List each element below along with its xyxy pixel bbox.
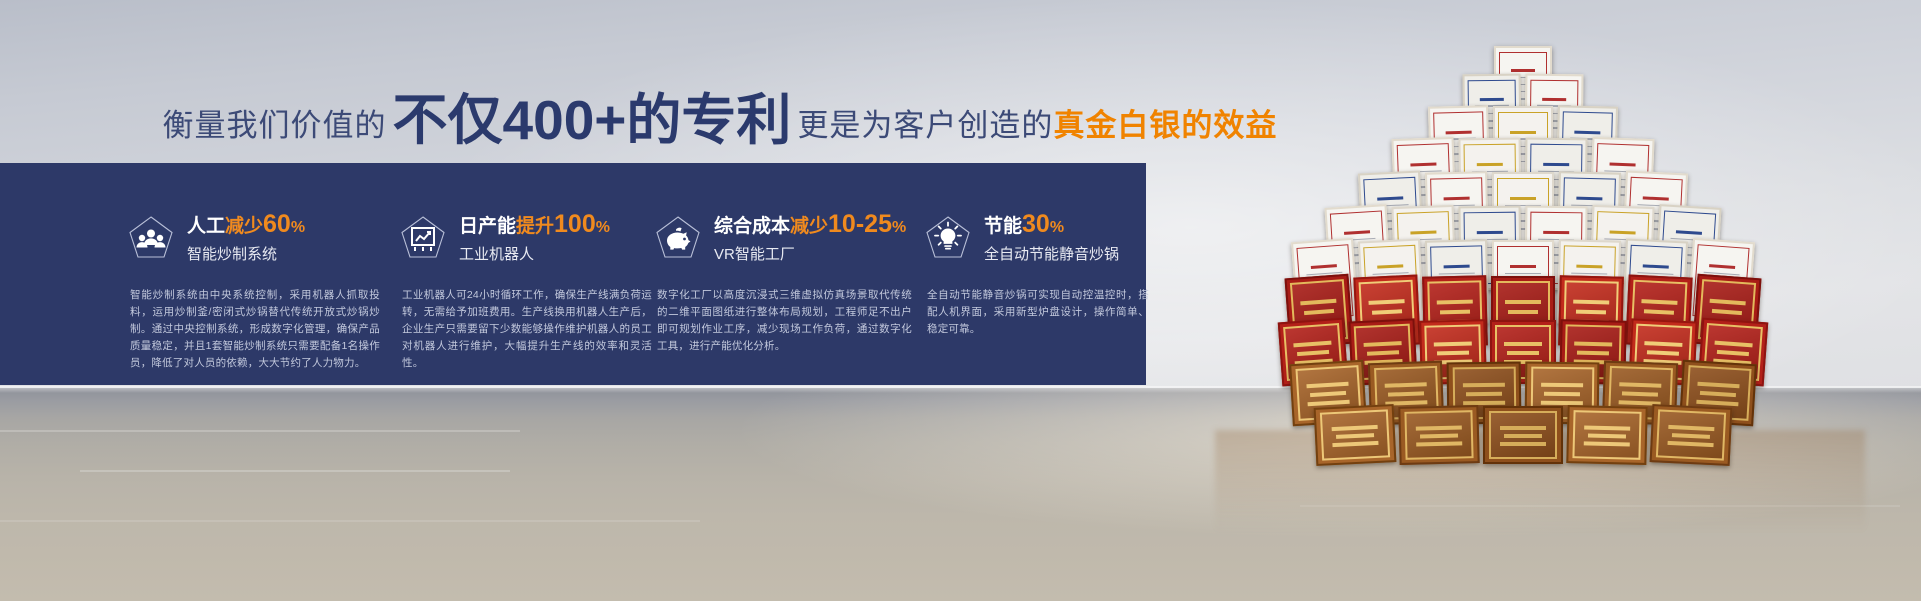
page-headline: 衡量我们价值的 不仅400+的专利 更是为客户创造的 真金白银的效益: [0, 72, 1440, 138]
certificate-text-line: [1543, 163, 1569, 166]
headline-middle: 更是为客户创造的: [797, 100, 1053, 145]
feature-title: 综合成本减少10-25%: [714, 213, 906, 239]
certificate-text-line: [1311, 264, 1337, 269]
plaque-text-line: [1574, 342, 1611, 347]
people-group-icon: [128, 215, 174, 261]
plaque-text-line: [1668, 425, 1714, 431]
plaque-text-line: [1667, 441, 1713, 447]
certificate-text-line: [1609, 231, 1635, 235]
plaque-text-line: [1367, 350, 1398, 356]
plaque-text-line: [1507, 351, 1538, 355]
certificate-text-line: [1576, 197, 1602, 201]
certificate-inner: [1320, 409, 1391, 461]
feature-title-highlight: 减少: [790, 216, 828, 237]
feature-title: 节能30%: [984, 213, 1119, 239]
feature-subtitle: 全自动节能静音炒锅: [984, 246, 1119, 264]
plaque-text-line: [1463, 383, 1506, 388]
feature-title: 日产能提升100%: [459, 213, 610, 239]
plaque-text-line: [1310, 391, 1346, 397]
feature-subtitle: VR智能工厂: [714, 246, 906, 264]
feature-title-prefix: 日产能: [459, 216, 516, 237]
plaque-text-line: [1434, 342, 1471, 347]
plaque-text-line: [1710, 299, 1746, 306]
feature-text-block: 节能30% 全自动节能静音炒锅: [984, 213, 1119, 264]
certificate-inner: [1404, 410, 1474, 460]
feature-item-energy: 节能30% 全自动节能静音炒锅 全自动节能静音炒锅可实现自动控温控时，搭配人机界…: [925, 163, 1157, 385]
feature-title-unit: %: [291, 219, 305, 236]
certificate-text-line: [1377, 197, 1403, 201]
certificate-text-line: [1575, 130, 1600, 134]
plaque-text-line: [1645, 341, 1682, 347]
certificate-text-line: [1543, 231, 1569, 234]
certificate-text-line: [1446, 130, 1471, 134]
feature-subtitle: 智能炒制系统: [187, 246, 305, 264]
certificate-text-line: [1444, 265, 1470, 269]
plaque-text-line: [1437, 299, 1473, 304]
feature-subtitle: 工业机器人: [459, 246, 610, 264]
feature-title-prefix: 节能: [984, 216, 1022, 237]
certificate-text-line: [1410, 163, 1436, 167]
feature-title-unit: %: [596, 219, 610, 236]
feature-title-prefix: 人工: [187, 216, 225, 237]
plaque-text-line: [1388, 391, 1424, 396]
plaque-text-line: [1500, 442, 1546, 446]
certificate-inner: [1572, 410, 1642, 460]
certificate-text-line: [1709, 264, 1735, 269]
plaque-text-line: [1336, 433, 1375, 439]
feature-title-unit: %: [892, 219, 906, 236]
plaque-text-line: [1544, 392, 1579, 396]
plaque-text-line: [1588, 434, 1627, 439]
plaque-text-line: [1420, 434, 1459, 439]
certificate-text-line: [1377, 265, 1403, 269]
certificate-text-line: [1477, 231, 1503, 234]
plaque-text-line: [1300, 299, 1336, 306]
feature-item-capacity: 日产能提升100% 工业机器人 工业机器人可24小时循环工作，确保生产线满负荷运…: [400, 163, 650, 385]
plaque-text-line: [1437, 351, 1468, 356]
certificate-item: [1314, 404, 1397, 466]
plaque-text-line: [1622, 391, 1658, 396]
feature-title-number: 60: [263, 210, 291, 238]
plaque-text-line: [1384, 383, 1427, 389]
plaque-text-line: [1619, 383, 1662, 389]
plaque-text-line: [1715, 341, 1752, 348]
plaque-text-line: [1505, 300, 1541, 304]
headline-suffix: 真金白银的效益: [1053, 100, 1277, 145]
plaque-text-line: [1584, 425, 1630, 430]
plaque-text-line: [1306, 382, 1349, 389]
plaque-text-line: [1696, 399, 1739, 406]
feature-list: 人工减少60% 智能炒制系统 智能炒制系统由中央系统控制，采用机器人抓取投料，运…: [0, 163, 1146, 385]
certificate-text-line: [1480, 98, 1504, 101]
plaque-text-line: [1644, 309, 1674, 314]
certificate-inner: [1656, 409, 1727, 461]
certificate-item: [1398, 405, 1479, 465]
feature-body-text: 智能炒制系统由中央系统控制，采用机器人抓取投料，运用炒制釜/密闭式炒锅替代传统开…: [130, 287, 380, 372]
certificate-text-line: [1505, 273, 1541, 275]
certificate-text-line: [1643, 265, 1669, 269]
plaque-text-line: [1712, 309, 1742, 315]
certificate-inner: [1489, 411, 1557, 460]
piggy-bank-icon: [655, 215, 701, 261]
feature-title-prefix: 综合成本: [714, 216, 790, 237]
certificate-text-line: [1510, 197, 1536, 200]
certificate-text-line: [1511, 69, 1535, 72]
feature-body-text: 数字化工厂以高度沉浸式三维虚拟仿真场景取代传统的二维平面图纸进行整体布局规划，工…: [657, 287, 912, 355]
plaque-text-line: [1717, 350, 1748, 356]
sea-streak: [0, 430, 520, 432]
lightbulb-icon: [925, 215, 971, 261]
plaque-text-line: [1372, 309, 1402, 314]
chart-board-icon: [400, 215, 446, 261]
sea-streak: [80, 470, 510, 472]
plaque-text-line: [1541, 383, 1584, 388]
feature-header: 综合成本减少10-25% VR智能工厂: [655, 213, 906, 264]
feature-title-highlight: 减少: [225, 216, 263, 237]
plaque-text-line: [1576, 310, 1606, 315]
feature-body-text: 工业机器人可24小时循环工作，确保生产线满负荷运转，无需给予加班费用。生产线换用…: [402, 287, 652, 372]
certificate-text-line: [1510, 131, 1535, 134]
certificate-item: [1650, 404, 1733, 466]
certificate-text-line: [1609, 163, 1635, 167]
feature-header: 节能30% 全自动节能静音炒锅: [925, 213, 1119, 264]
certificate-text-line: [1676, 230, 1702, 235]
feature-header: 日产能提升100% 工业机器人: [400, 213, 610, 264]
plaque-text-line: [1672, 433, 1711, 439]
certificate-text-line: [1439, 272, 1475, 274]
feature-header: 人工减少60% 智能炒制系统: [128, 213, 305, 264]
plaque-text-line: [1440, 310, 1470, 315]
certificate-text-line: [1477, 163, 1503, 166]
certificate-text-line: [1571, 272, 1607, 274]
plaque-text-line: [1641, 299, 1677, 305]
plaque-text-line: [1368, 299, 1404, 305]
plaque-text-line: [1504, 434, 1543, 438]
certificate-text-line: [1542, 98, 1566, 101]
feature-title-number: 30: [1022, 210, 1050, 238]
feature-title-unit: %: [1050, 219, 1064, 236]
plaque-text-line: [1416, 442, 1462, 447]
headline-prefix: 衡量我们价值的: [163, 100, 387, 145]
plaque-text-line: [1577, 351, 1608, 356]
sea-streak: [0, 520, 700, 522]
certificate-text-line: [1510, 265, 1536, 268]
plaque-text-line: [1504, 342, 1541, 346]
plaque-text-line: [1304, 309, 1334, 315]
plaque-text-line: [1416, 425, 1462, 430]
plaque-text-line: [1466, 392, 1501, 396]
plaque-text-line: [1584, 442, 1630, 447]
feature-body-text: 全自动节能静音炒锅可实现自动控温控时，搭配人机界面，采用新型炉盘设计，操作简单、…: [927, 287, 1149, 338]
plaque-text-line: [1647, 350, 1678, 356]
plaque-text-line: [1508, 310, 1538, 314]
plaque-text-line: [1364, 341, 1401, 347]
certificate-item: [1566, 405, 1647, 465]
certificate-text-line: [1410, 231, 1436, 235]
plaque-text-line: [1331, 425, 1377, 431]
plaque-text-line: [1700, 391, 1736, 397]
certificate-item: [1483, 406, 1563, 464]
plaque-text-line: [1294, 341, 1331, 348]
plaque-text-line: [1573, 299, 1609, 304]
certificate-text-line: [1344, 230, 1370, 235]
plaque-text-line: [1697, 382, 1740, 389]
feature-title-number: 10-25: [828, 210, 892, 238]
headline-emphasis: 不仅400+的专利: [387, 75, 798, 155]
feature-title: 人工减少60%: [187, 213, 305, 239]
feature-text-block: 日产能提升100% 工业机器人: [459, 213, 610, 264]
feature-item-labor: 人工减少60% 智能炒制系统 智能炒制系统由中央系统控制，采用机器人抓取投料，运…: [128, 163, 378, 385]
certificate-text-line: [1444, 197, 1470, 201]
feature-text-block: 综合成本减少10-25% VR智能工厂: [714, 213, 906, 264]
feature-item-cost: 综合成本减少10-25% VR智能工厂 数字化工厂以高度沉浸式三维虚拟仿真场景取…: [655, 163, 910, 385]
feature-title-number: 100: [554, 210, 596, 238]
plaque-text-line: [1500, 426, 1546, 430]
feature-title-highlight: 提升: [516, 216, 554, 237]
plaque-text-line: [1297, 350, 1328, 356]
certificate-text-line: [1576, 265, 1602, 269]
plaque-text-line: [1332, 441, 1378, 447]
feature-panel: 人工减少60% 智能炒制系统 智能炒制系统由中央系统控制，采用机器人抓取投料，运…: [0, 163, 1146, 385]
plaque-text-line: [1307, 399, 1350, 406]
feature-text-block: 人工减少60% 智能炒制系统: [187, 213, 305, 264]
certificate-text-line: [1643, 197, 1669, 201]
